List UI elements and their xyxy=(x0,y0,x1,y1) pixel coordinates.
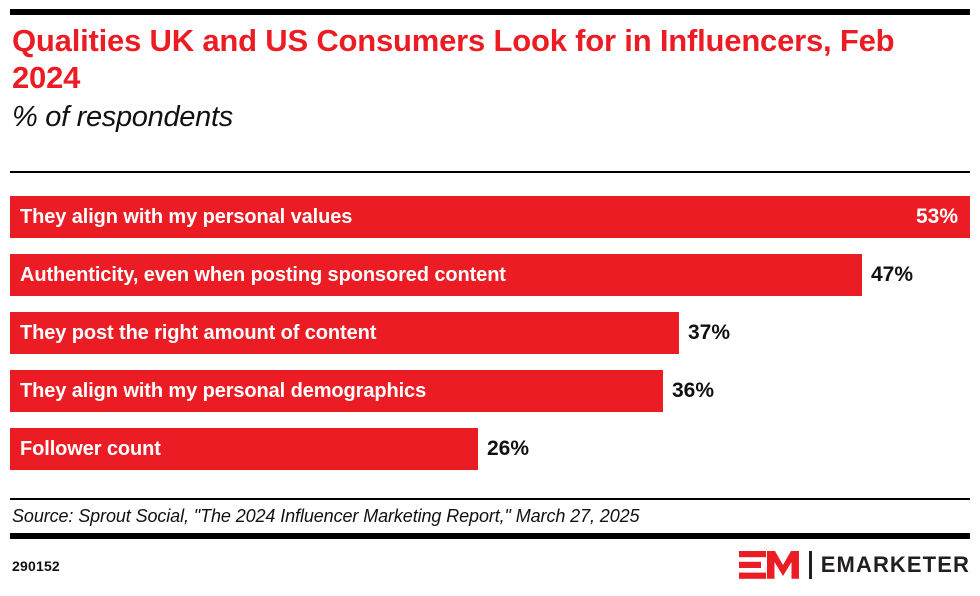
bar[interactable]: Follower count xyxy=(10,428,478,470)
chart-id: 290152 xyxy=(12,558,60,574)
bar-category-label: Follower count xyxy=(20,438,161,461)
bar-value-label: 53% xyxy=(916,205,958,229)
bar[interactable]: Authenticity, even when posting sponsore… xyxy=(10,254,862,296)
bar-value-label: 26% xyxy=(487,437,529,461)
chart-subtitle: % of respondents xyxy=(12,100,942,134)
subtitle-rule xyxy=(10,171,970,173)
chart-header: Qualities UK and US Consumers Look for i… xyxy=(12,22,942,134)
em-monogram-icon xyxy=(739,550,801,580)
logo-wordmark: EMARKETER xyxy=(821,552,970,578)
logo-divider xyxy=(809,551,812,579)
footer-rule xyxy=(10,533,970,539)
page-title: Qualities UK and US Consumers Look for i… xyxy=(12,22,942,96)
bar-row: Authenticity, even when posting sponsore… xyxy=(10,254,970,296)
bar[interactable]: They align with my personal demographics xyxy=(10,370,663,412)
bar[interactable]: They align with my personal values53% xyxy=(10,196,970,238)
bar-chart-plot: They align with my personal values53%Aut… xyxy=(10,196,970,482)
bar-row: They align with my personal demographics… xyxy=(10,370,970,412)
bar-row: They post the right amount of content37% xyxy=(10,312,970,354)
emarketer-logo[interactable]: EMARKETER xyxy=(739,549,970,581)
bar[interactable]: They post the right amount of content xyxy=(10,312,679,354)
bar-value-label: 47% xyxy=(871,263,913,287)
bar-category-label: They align with my personal values xyxy=(20,206,352,229)
top-rule xyxy=(10,9,970,15)
bar-category-label: They align with my personal demographics xyxy=(20,380,426,403)
bar-value-label: 37% xyxy=(688,321,730,345)
bar-category-label: Authenticity, even when posting sponsore… xyxy=(20,264,506,287)
bar-row: They align with my personal values53% xyxy=(10,196,970,238)
source-top-rule xyxy=(10,498,970,500)
bar-category-label: They post the right amount of content xyxy=(20,322,376,345)
source-note: Source: Sprout Social, "The 2024 Influen… xyxy=(12,504,639,528)
bar-row: Follower count26% xyxy=(10,428,970,470)
bar-value-label: 36% xyxy=(672,379,714,403)
chart-card: Qualities UK and US Consumers Look for i… xyxy=(0,0,980,596)
